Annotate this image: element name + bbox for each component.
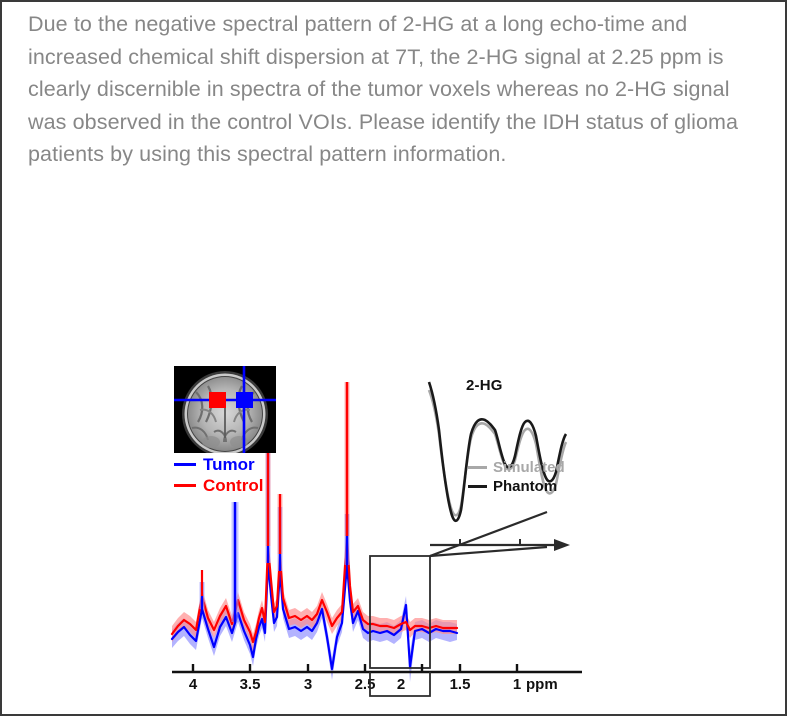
legend-item-control: Control: [174, 475, 314, 496]
coronal-brain-mri: [174, 366, 276, 453]
x-tick-label-3: 3: [304, 676, 312, 693]
spectroscopy-figure: [2, 342, 787, 718]
simulated-line-swatch-icon: [468, 466, 487, 469]
inset-simulated-curve: [429, 390, 566, 515]
page-root: Due to the negative spectral pattern of …: [2, 2, 785, 714]
x-tick-label-2-5: 2.5: [355, 676, 376, 693]
inset-title-2hg: 2-HG: [466, 377, 503, 394]
zoom-region-box: [370, 556, 430, 668]
figure-svg: [2, 342, 787, 718]
legend-label-control: Control: [203, 476, 263, 496]
legend-item-tumor: Tumor: [174, 454, 314, 475]
control-voi-marker: [209, 392, 226, 408]
legend-item-phantom: Phantom: [468, 477, 588, 496]
x-tick-label-2: 2: [397, 676, 405, 693]
mri-svg: [174, 366, 276, 453]
legend-label-phantom: Phantom: [493, 478, 557, 495]
x-tick-label-1-5: 1.5: [450, 676, 471, 693]
tumor-line-swatch-icon: [174, 463, 196, 466]
inset-phantom-curve: [429, 382, 566, 521]
legend-item-simulated: Simulated: [468, 458, 588, 477]
x-tick-label-1: 1: [513, 676, 521, 693]
main-legend: Tumor Control: [174, 454, 314, 496]
control-line-swatch-icon: [174, 484, 196, 487]
x-axis-unit-label: ppm: [526, 676, 558, 693]
x-tick-label-4: 4: [189, 676, 197, 693]
inset-axis-arrowhead: [554, 539, 570, 551]
tumor-voi-marker: [236, 392, 253, 408]
prompt-paragraph: Due to the negative spectral pattern of …: [28, 8, 763, 171]
x-tick-label-3-5: 3.5: [240, 676, 261, 693]
phantom-line-swatch-icon: [468, 485, 487, 488]
legend-label-simulated: Simulated: [493, 459, 565, 476]
inset-legend: Simulated Phantom: [468, 458, 588, 496]
zoom-connector-lines: [430, 512, 547, 556]
mri-brain-tissue: [188, 377, 262, 451]
legend-label-tumor: Tumor: [203, 455, 255, 475]
